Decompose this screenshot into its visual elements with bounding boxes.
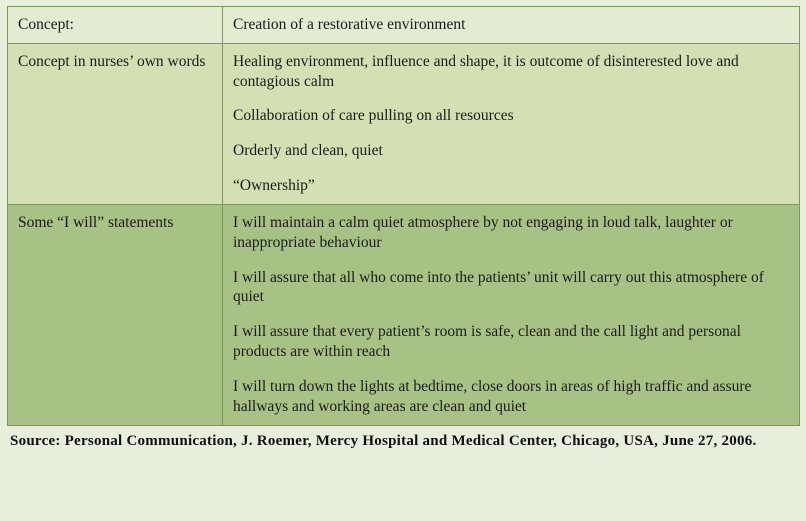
- content-paragraph: “Ownership”: [233, 176, 790, 196]
- content-paragraph: I will assure that every patient’s room …: [233, 322, 790, 362]
- concept-table: Concept: Creation of a restorative envir…: [7, 6, 800, 426]
- row-content-cell: I will maintain a calm quiet atmosphere …: [223, 204, 800, 425]
- content-paragraph: I will turn down the lights at bedtime, …: [233, 377, 790, 417]
- content-paragraph: I will maintain a calm quiet atmosphere …: [233, 213, 790, 253]
- row-label: Some “I will” statements: [18, 213, 213, 233]
- table-row: Some “I will” statements I will maintain…: [8, 204, 800, 425]
- row-label-cell: Some “I will” statements: [8, 204, 223, 425]
- row-content-cell: Creation of a restorative environment: [223, 7, 800, 44]
- content-paragraph: Creation of a restorative environment: [233, 15, 790, 35]
- content-paragraph: Orderly and clean, quiet: [233, 141, 790, 161]
- table-row: Concept in nurses’ own words Healing env…: [8, 43, 800, 204]
- row-label: Concept:: [18, 15, 213, 35]
- row-content-cell: Healing environment, influence and shape…: [223, 43, 800, 204]
- content-paragraph: Collaboration of care pulling on all res…: [233, 106, 790, 126]
- content-paragraph: I will assure that all who come into the…: [233, 268, 790, 308]
- document-page: Concept: Creation of a restorative envir…: [0, 0, 806, 521]
- content-paragraph: Healing environment, influence and shape…: [233, 52, 790, 92]
- row-label: Concept in nurses’ own words: [18, 52, 213, 72]
- row-label-cell: Concept:: [8, 7, 223, 44]
- source-note: Source: Personal Communication, J. Roeme…: [10, 433, 797, 450]
- table-row: Concept: Creation of a restorative envir…: [8, 7, 800, 44]
- source-note-container: Source: Personal Communication, J. Roeme…: [7, 433, 799, 450]
- row-label-cell: Concept in nurses’ own words: [8, 43, 223, 204]
